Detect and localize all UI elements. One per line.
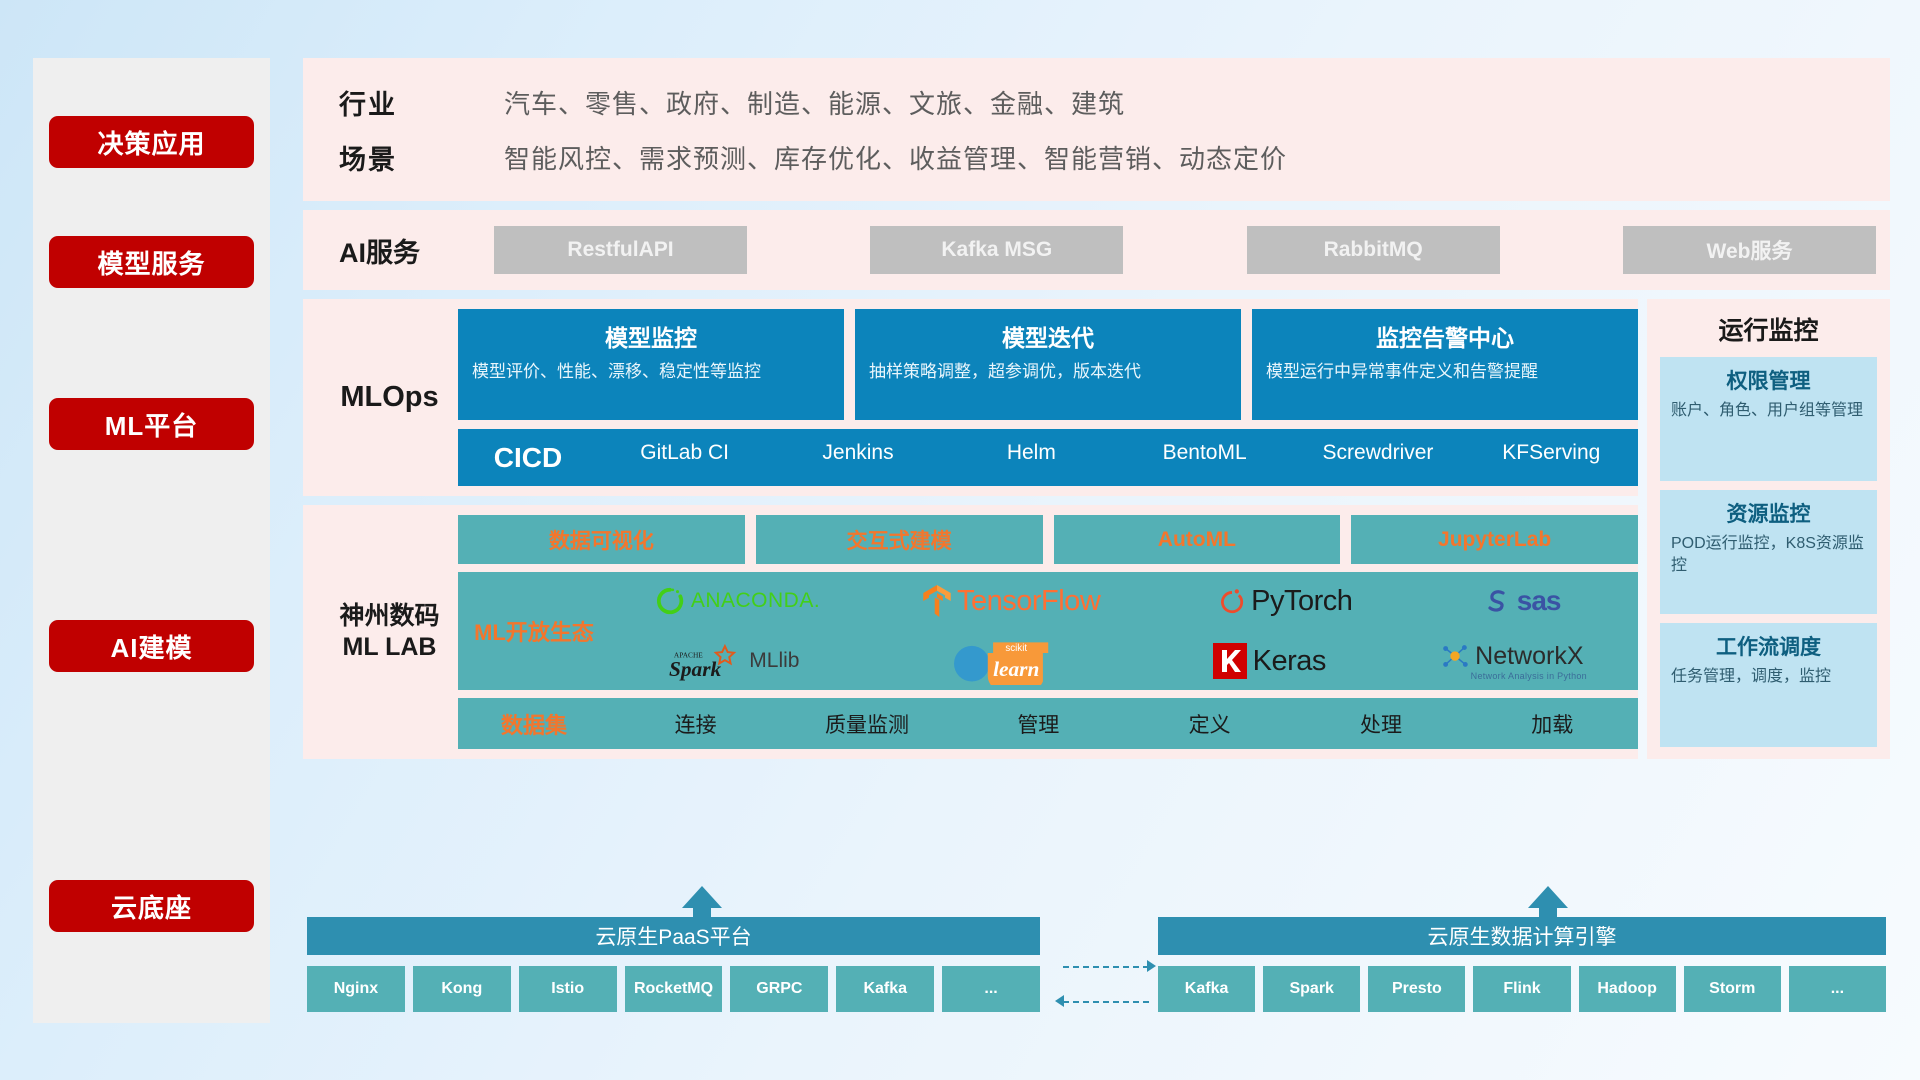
ai-service-chip-restfulapi[interactable]: RestfulAPI xyxy=(494,226,747,274)
ml-open-ecosystem: ML开放生态 ANACONDA. xyxy=(458,572,1638,690)
sas-icon xyxy=(1483,587,1511,615)
card-desc: POD运行监控，K8S资源监控 xyxy=(1671,533,1866,578)
platform-left-column: MLOps 模型监控 模型评价、性能、漂移、稳定性等监控 模型迭代 抽样策略调整… xyxy=(303,299,1638,768)
band-ml-lab: 神州数码 ML LAB 数据可视化 交互式建模 AutoML JupyterLa… xyxy=(303,505,1638,759)
monitor-card-workflow[interactable]: 工作流调度 任务管理，调度，监控 xyxy=(1660,623,1877,747)
connector-dash-left xyxy=(1063,1001,1149,1003)
connector-dash-right xyxy=(1063,966,1149,968)
rail-item-cloud-base[interactable]: 云底座 xyxy=(49,880,254,932)
connector-arrow-right xyxy=(1147,960,1156,972)
anaconda-wordmark: ANACONDA. xyxy=(691,589,820,613)
rail-label: AI建模 xyxy=(110,628,192,665)
mlops-card-alert-center[interactable]: 监控告警中心 模型运行中异常事件定义和告警提醒 xyxy=(1252,309,1638,420)
data-chip-list: Kafka Spark Presto Flink Hadoop Storm ..… xyxy=(1158,966,1886,1012)
data-chip-presto[interactable]: Presto xyxy=(1368,966,1465,1012)
cloud-native-paas-title: 云原生PaaS平台 xyxy=(307,917,1040,955)
mllib-wordmark: MLlib xyxy=(749,649,799,673)
rail-label: ML平台 xyxy=(105,406,199,443)
ml-open-ecosystem-label: ML开放生态 xyxy=(458,615,610,647)
rail-item-decision-apps[interactable]: 决策应用 xyxy=(49,116,254,168)
keras-logo: Keras xyxy=(1145,643,1394,679)
tensorflow-logo: TensorFlow xyxy=(865,585,1158,618)
lab-tool-list: 数据可视化 交互式建模 AutoML JupyterLab xyxy=(458,515,1638,564)
pytorch-icon xyxy=(1219,586,1245,616)
mlops-label: MLOps xyxy=(303,309,458,486)
cicd-item-kfserving[interactable]: KFServing xyxy=(1465,441,1638,475)
svg-text:scikit: scikit xyxy=(1005,643,1027,654)
diagram-main: 行业 汽车、零售、政府、制造、能源、文旅、金融、建筑 场景 智能风控、需求预测、… xyxy=(303,58,1890,768)
card-title: 模型监控 xyxy=(472,319,830,353)
band-mlops: MLOps 模型监控 模型评价、性能、漂移、稳定性等监控 模型迭代 抽样策略调整… xyxy=(303,299,1638,496)
data-chip-hadoop[interactable]: Hadoop xyxy=(1579,966,1676,1012)
layer-rail: 决策应用 模型服务 ML平台 AI建模 云底座 xyxy=(33,58,270,1023)
networkx-logo: NetworkX Network Analysis in Python xyxy=(1394,641,1630,681)
cloud-native-data-engine-title: 云原生数据计算引擎 xyxy=(1158,917,1886,955)
scikit-learn-icon: scikit learn xyxy=(948,637,1056,685)
rail-label: 云底座 xyxy=(111,888,192,925)
dataset-item-process[interactable]: 处理 xyxy=(1295,709,1466,739)
cicd-bar: CICD GitLab CI Jenkins Helm BentoML Scre… xyxy=(458,429,1638,486)
lab-tool-automl[interactable]: AutoML xyxy=(1054,515,1341,564)
anaconda-icon xyxy=(655,586,685,616)
keras-icon xyxy=(1213,643,1247,679)
tensorflow-icon xyxy=(923,585,951,617)
rail-item-model-service[interactable]: 模型服务 xyxy=(49,236,254,288)
ai-service-label: AI服务 xyxy=(339,231,494,270)
card-title: 监控告警中心 xyxy=(1266,319,1624,353)
ai-service-chip-rabbitmq[interactable]: RabbitMQ xyxy=(1247,226,1500,274)
paas-chip-more[interactable]: ... xyxy=(942,966,1040,1012)
networkx-icon xyxy=(1440,641,1470,671)
pytorch-logo: PyTorch xyxy=(1158,585,1413,618)
cloud-native-paas-group: 云原生PaaS平台 Nginx Kong Istio RocketMQ GRPC… xyxy=(307,917,1040,1012)
dataset-item-list: 连接 质量监测 管理 定义 处理 加载 xyxy=(610,709,1638,739)
app-key-industry: 行业 xyxy=(339,83,504,122)
connector-arrow-left xyxy=(1055,995,1064,1007)
ai-service-chip-kafka-msg[interactable]: Kafka MSG xyxy=(870,226,1123,274)
networkx-tagline: Network Analysis in Python xyxy=(1471,671,1587,681)
platform-right-column: 运行监控 权限管理 账户、角色、用户组等管理 资源监控 POD运行监控，K8S资… xyxy=(1647,299,1890,768)
mlops-card-model-iteration[interactable]: 模型迭代 抽样策略调整，超参调优，版本迭代 xyxy=(855,309,1241,420)
platform-area: MLOps 模型监控 模型评价、性能、漂移、稳定性等监控 模型迭代 抽样策略调整… xyxy=(303,299,1890,768)
app-row-scenario: 场景 智能风控、需求预测、库存优化、收益管理、智能营销、动态定价 xyxy=(339,138,1890,177)
cicd-item-jenkins[interactable]: Jenkins xyxy=(771,441,944,475)
card-desc: 模型运行中异常事件定义和告警提醒 xyxy=(1266,360,1624,385)
card-desc: 账户、角色、用户组等管理 xyxy=(1671,400,1866,422)
card-title: 模型迭代 xyxy=(869,319,1227,353)
scikit-learn-logo: scikit learn xyxy=(859,637,1145,685)
anaconda-logo: ANACONDA. xyxy=(610,586,865,616)
cicd-title: CICD xyxy=(458,442,598,474)
app-value-industry: 汽车、零售、政府、制造、能源、文旅、金融、建筑 xyxy=(504,84,1125,121)
rail-item-ai-modeling[interactable]: AI建模 xyxy=(49,620,254,672)
pytorch-wordmark: PyTorch xyxy=(1251,585,1352,618)
spark-mllib-logo: APACHE Spark MLlib xyxy=(610,639,859,683)
svg-text:Spark: Spark xyxy=(669,657,722,681)
dataset-item-load[interactable]: 加载 xyxy=(1467,709,1638,739)
band-ai-services: AI服务 RestfulAPI Kafka MSG RabbitMQ Web服务 xyxy=(303,210,1890,290)
monitor-card-permission[interactable]: 权限管理 账户、角色、用户组等管理 xyxy=(1660,357,1877,481)
rail-label: 决策应用 xyxy=(97,124,205,161)
app-row-industry: 行业 汽车、零售、政府、制造、能源、文旅、金融、建筑 xyxy=(339,83,1890,122)
data-arrow-up xyxy=(1528,886,1568,908)
mlops-card-model-monitoring[interactable]: 模型监控 模型评价、性能、漂移、稳定性等监控 xyxy=(458,309,844,420)
cicd-item-gitlab-ci[interactable]: GitLab CI xyxy=(598,441,771,475)
lab-tool-data-visualization[interactable]: 数据可视化 xyxy=(458,515,745,564)
card-desc: 任务管理，调度，监控 xyxy=(1671,666,1866,688)
runtime-monitoring-title: 运行监控 xyxy=(1660,311,1877,347)
ml-lab-label-line2: ML LAB xyxy=(343,632,437,663)
card-title: 权限管理 xyxy=(1671,365,1866,395)
dataset-item-connect[interactable]: 连接 xyxy=(610,709,781,739)
data-chip-spark[interactable]: Spark xyxy=(1263,966,1360,1012)
cloud-native-data-engine-group: 云原生数据计算引擎 Kafka Spark Presto Flink Hadoo… xyxy=(1158,917,1886,1012)
paas-chip-list: Nginx Kong Istio RocketMQ GRPC Kafka ... xyxy=(307,966,1040,1012)
band-decision-applications: 行业 汽车、零售、政府、制造、能源、文旅、金融、建筑 场景 智能风控、需求预测、… xyxy=(303,58,1890,201)
paas-arrow-up xyxy=(682,886,722,908)
data-chip-flink[interactable]: Flink xyxy=(1473,966,1570,1012)
paas-chip-kafka[interactable]: Kafka xyxy=(836,966,934,1012)
svg-text:learn: learn xyxy=(993,657,1039,681)
cicd-item-helm[interactable]: Helm xyxy=(945,441,1118,475)
data-chip-storm[interactable]: Storm xyxy=(1684,966,1781,1012)
data-chip-kafka[interactable]: Kafka xyxy=(1158,966,1255,1012)
card-title: 资源监控 xyxy=(1671,498,1866,528)
lab-tool-interactive-modeling[interactable]: 交互式建模 xyxy=(756,515,1043,564)
networkx-wordmark: NetworkX xyxy=(1475,642,1583,671)
monitor-card-resource[interactable]: 资源监控 POD运行监控，K8S资源监控 xyxy=(1660,490,1877,614)
cloud-foundation-area: 云原生PaaS平台 Nginx Kong Istio RocketMQ GRPC… xyxy=(303,884,1890,1032)
data-chip-more[interactable]: ... xyxy=(1789,966,1886,1012)
tensorflow-wordmark: TensorFlow xyxy=(957,585,1100,618)
paas-chip-kong[interactable]: Kong xyxy=(413,966,511,1012)
paas-chip-istio[interactable]: Istio xyxy=(519,966,617,1012)
ai-service-chip-web-service[interactable]: Web服务 xyxy=(1623,226,1876,274)
dataset-item-define[interactable]: 定义 xyxy=(1124,709,1295,739)
sas-logo: sas xyxy=(1413,585,1630,617)
cicd-item-screwdriver[interactable]: Screwdriver xyxy=(1291,441,1464,475)
dataset-item-quality[interactable]: 质量监测 xyxy=(781,709,952,739)
keras-wordmark: Keras xyxy=(1253,645,1326,678)
ml-lab-label-line1: 神州数码 xyxy=(339,601,439,632)
ml-lab-label: 神州数码 ML LAB xyxy=(303,515,458,749)
ai-service-chip-list: RestfulAPI Kafka MSG RabbitMQ Web服务 xyxy=(494,226,1890,274)
sas-wordmark: sas xyxy=(1517,585,1561,617)
dataset-label: 数据集 xyxy=(458,708,610,740)
app-key-scenario: 场景 xyxy=(339,138,504,177)
spark-icon: APACHE Spark xyxy=(669,639,743,683)
cicd-item-list: GitLab CI Jenkins Helm BentoML Screwdriv… xyxy=(598,441,1638,475)
cicd-item-bentoml[interactable]: BentoML xyxy=(1118,441,1291,475)
lab-tool-jupyterlab[interactable]: JupyterLab xyxy=(1351,515,1638,564)
mlops-card-list: 模型监控 模型评价、性能、漂移、稳定性等监控 模型迭代 抽样策略调整，超参调优，… xyxy=(458,309,1638,420)
card-desc: 模型评价、性能、漂移、稳定性等监控 xyxy=(472,360,830,385)
paas-chip-rocketmq[interactable]: RocketMQ xyxy=(625,966,723,1012)
band-runtime-monitoring: 运行监控 权限管理 账户、角色、用户组等管理 资源监控 POD运行监控，K8S资… xyxy=(1647,299,1890,759)
paas-chip-grpc[interactable]: GRPC xyxy=(730,966,828,1012)
app-value-scenario: 智能风控、需求预测、库存优化、收益管理、智能营销、动态定价 xyxy=(504,139,1287,176)
card-desc: 抽样策略调整，超参调优，版本迭代 xyxy=(869,360,1227,385)
dataset-item-manage[interactable]: 管理 xyxy=(953,709,1124,739)
rail-item-ml-platform[interactable]: ML平台 xyxy=(49,398,254,450)
rail-label: 模型服务 xyxy=(97,244,205,281)
dataset-row: 数据集 连接 质量监测 管理 定义 处理 加载 xyxy=(458,698,1638,749)
card-title: 工作流调度 xyxy=(1671,631,1866,661)
paas-chip-nginx[interactable]: Nginx xyxy=(307,966,405,1012)
